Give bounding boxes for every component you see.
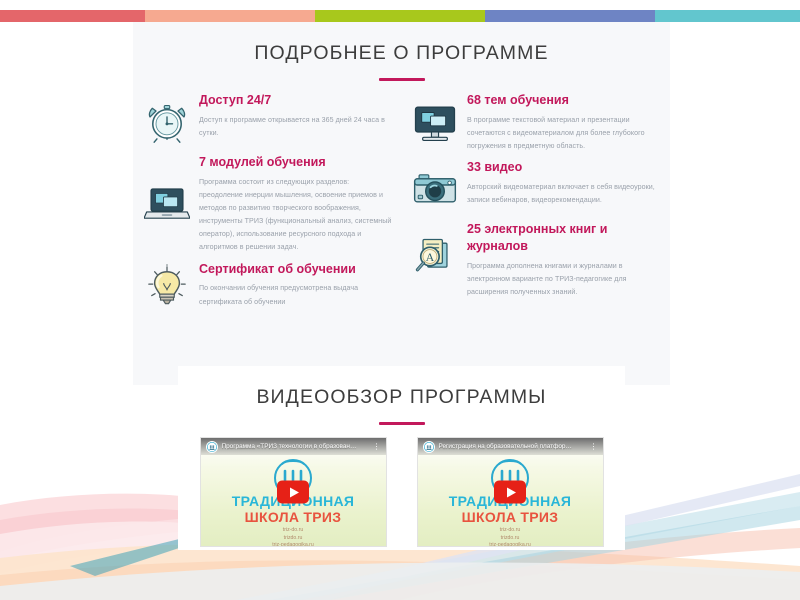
feature-text: 33 видео Авторский видеоматериал включае… [467, 159, 663, 207]
features-grid: Доступ 24/7 Доступ к программе открывает… [133, 92, 670, 382]
video-title[interactable]: Регистрация на образовательной платфор… [439, 443, 586, 450]
laptop-icon [143, 178, 191, 230]
segment-lime [315, 10, 485, 22]
video-title-bar: Программа «ТРИЗ технологии в образован… … [201, 438, 386, 455]
feature-text: 7 модулей обучения Программа состоит из … [199, 154, 395, 255]
video-card-1[interactable]: ТРАДИЦИОННАЯ ШКОЛА ТРИЗ triz-do.ru trizd… [201, 438, 386, 546]
svg-text:A: A [426, 250, 435, 264]
features-left-column: Доступ 24/7 Доступ к программе открывает… [133, 92, 401, 382]
monitor-icon [411, 98, 459, 150]
feature-33-videos: 33 видео Авторский видеоматериал включае… [411, 159, 663, 215]
feature-heading: 68 тем обучения [467, 92, 663, 109]
segment-peach [145, 10, 315, 22]
feature-certificate: Сертификат об обучении По окончании обуч… [143, 261, 395, 313]
alarm-clock-icon [143, 96, 191, 148]
feature-68-topics: 68 тем обучения В программе текстовой ма… [411, 92, 663, 153]
magnifier-documents-icon: A [411, 231, 459, 283]
feature-body: Программа дополнена книгами и журналами … [467, 260, 663, 299]
feature-heading: Доступ 24/7 [199, 92, 395, 109]
feature-7-modules: 7 модулей обучения Программа состоит из … [143, 154, 395, 255]
segment-teal [655, 10, 800, 22]
video-card-2[interactable]: ТРАДИЦИОННАЯ ШКОЛА ТРИЗ triz-do.ru trizd… [418, 438, 603, 546]
video-title-bar: Регистрация на образовательной платфор… … [418, 438, 603, 455]
segment-red [0, 10, 145, 22]
feature-25-ebooks: A 25 электронных книг и журналов Програм… [411, 221, 663, 299]
features-right-column: 68 тем обучения В программе текстовой ма… [401, 92, 669, 382]
feature-heading: 33 видео [467, 159, 663, 176]
video-row: ТРАДИЦИОННАЯ ШКОЛА ТРИЗ triz-do.ru trizd… [178, 438, 625, 550]
video-urls: triz-do.ru trizdo.ru triz-pedagogika.ru [201, 527, 386, 546]
feature-body: Программа состоит из следующих разделов:… [199, 176, 395, 255]
page-title: ПОДРОБНЕЕ О ПРОГРАММЕ [133, 22, 670, 65]
kebab-menu-icon[interactable]: ⋮ [373, 443, 381, 451]
feature-text: Доступ 24/7 Доступ к программе открывает… [199, 92, 395, 140]
youtube-play-icon[interactable] [277, 481, 309, 504]
youtube-play-icon[interactable] [494, 481, 526, 504]
triz-channel-avatar[interactable] [206, 441, 218, 453]
video-line-2: ШКОЛА ТРИЗ [418, 509, 603, 525]
feature-heading: 7 модулей обучения [199, 154, 395, 171]
video-urls: triz-do.ru trizdo.ru triz-pedagogika.ru [418, 527, 603, 546]
feature-heading: 25 электронных книг и журналов [467, 221, 663, 255]
feature-text: 25 электронных книг и журналов Программа… [467, 221, 663, 299]
camera-icon [411, 163, 459, 215]
feature-body: В программе текстовой материал и презент… [467, 114, 663, 153]
feature-body: Доступ к программе открывается на 365 дн… [199, 114, 395, 140]
title-underline [379, 78, 425, 81]
lightbulb-icon [143, 261, 191, 313]
feature-body: Авторский видеоматериал включает в себя … [467, 181, 663, 207]
video-line-2: ШКОЛА ТРИЗ [201, 509, 386, 525]
feature-heading: Сертификат об обучении [199, 261, 395, 278]
video-title-underline [379, 422, 425, 425]
top-color-bar [0, 10, 800, 22]
feature-text: Сертификат об обучении По окончании обуч… [199, 261, 395, 309]
triz-channel-avatar[interactable] [423, 441, 435, 453]
kebab-menu-icon[interactable]: ⋮ [590, 443, 598, 451]
feature-text: 68 тем обучения В программе текстовой ма… [467, 92, 663, 153]
video-title[interactable]: Программа «ТРИЗ технологии в образован… [222, 443, 369, 450]
segment-blue [485, 10, 655, 22]
feature-access-24-7: Доступ 24/7 Доступ к программе открывает… [143, 92, 395, 148]
feature-body: По окончании обучения предусмотрена выда… [199, 282, 395, 308]
